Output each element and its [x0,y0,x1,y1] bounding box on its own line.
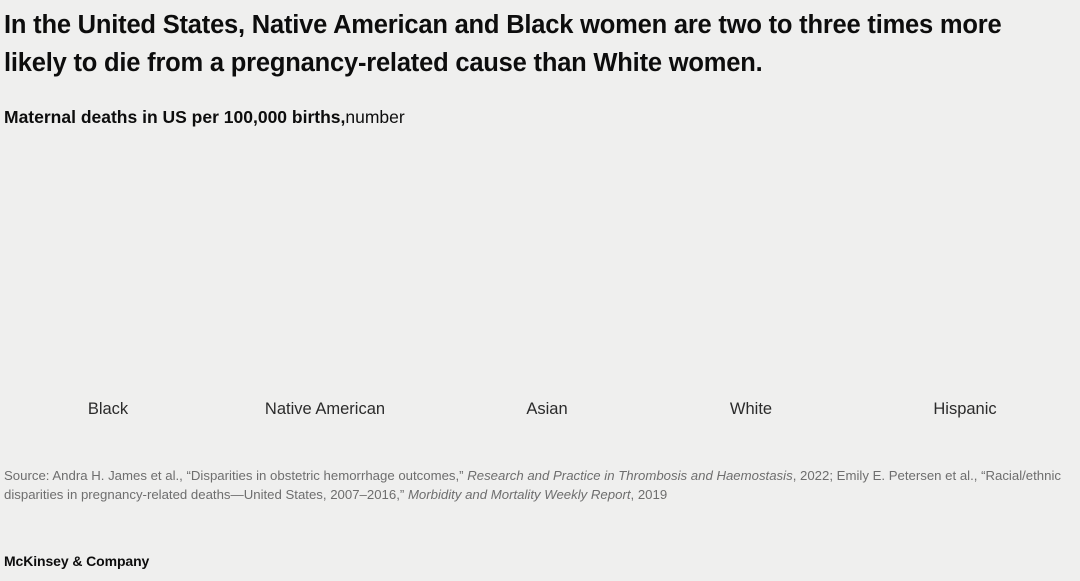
source-line-1-suffix: , 2022; Emily E. Petersen [793,468,942,483]
source-line-1-prefix: Source: Andra H. James et al., “Disparit… [4,468,467,483]
chart-subtitle: Maternal deaths in US per 100,000 births… [4,105,405,129]
axis-label-white: White [730,392,772,426]
axis-label-native-american: Native American [265,392,385,426]
subtitle-measure: Maternal deaths in US per 100,000 births… [4,107,345,127]
chart-plot-area [0,140,1080,392]
source-line-2-suffix: , 2019 [631,487,668,502]
axis-label-asian: Asian [526,392,567,426]
source-note: Source: Andra H. James et al., “Disparit… [4,466,1072,504]
page-title: In the United States, Native American an… [4,6,1068,82]
source-line-2-journal: Morbidity and Mortality Weekly Report [408,487,631,502]
category-axis: Black Native American Asian White Hispan… [0,392,1080,426]
subtitle-unit: number [345,107,404,127]
axis-label-black: Black [88,392,128,426]
mckinsey-brand-footer: McKinsey & Company [4,553,149,569]
chart-exhibit: In the United States, Native American an… [0,0,1080,581]
axis-label-hispanic: Hispanic [933,392,996,426]
source-line-1-journal: Research and Practice in Thrombosis and … [467,468,792,483]
